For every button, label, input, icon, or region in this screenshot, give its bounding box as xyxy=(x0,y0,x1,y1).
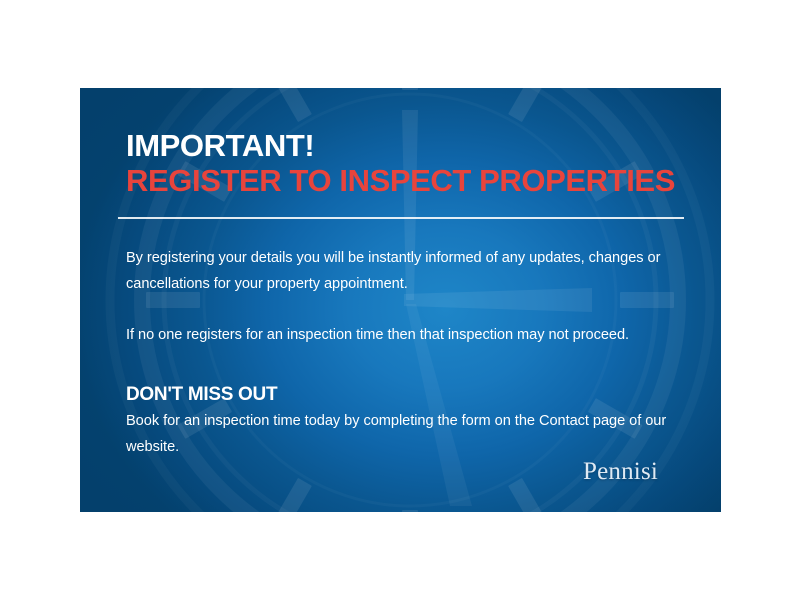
body-paragraph-2: If no one registers for an inspection ti… xyxy=(126,322,706,348)
headline-primary: IMPORTANT! xyxy=(126,129,696,162)
call-to-action-subheading: DON'T MISS OUT xyxy=(126,383,706,407)
notice-banner: IMPORTANT! REGISTER TO INSPECT PROPERTIE… xyxy=(80,88,721,512)
pennisi-logo: Pennisi xyxy=(583,458,658,486)
body-text-block: By registering your details you will be … xyxy=(126,245,706,460)
banner-content: IMPORTANT! REGISTER TO INSPECT PROPERTIE… xyxy=(80,88,721,512)
image-canvas: IMPORTANT! REGISTER TO INSPECT PROPERTIE… xyxy=(0,0,800,600)
headline-secondary: REGISTER TO INSPECT PROPERTIES xyxy=(126,164,696,197)
headline-block: IMPORTANT! REGISTER TO INSPECT PROPERTIE… xyxy=(126,129,696,197)
body-paragraph-1: By registering your details you will be … xyxy=(126,245,706,297)
headline-divider xyxy=(118,217,684,219)
body-paragraph-3: Book for an inspection time today by com… xyxy=(126,408,706,460)
